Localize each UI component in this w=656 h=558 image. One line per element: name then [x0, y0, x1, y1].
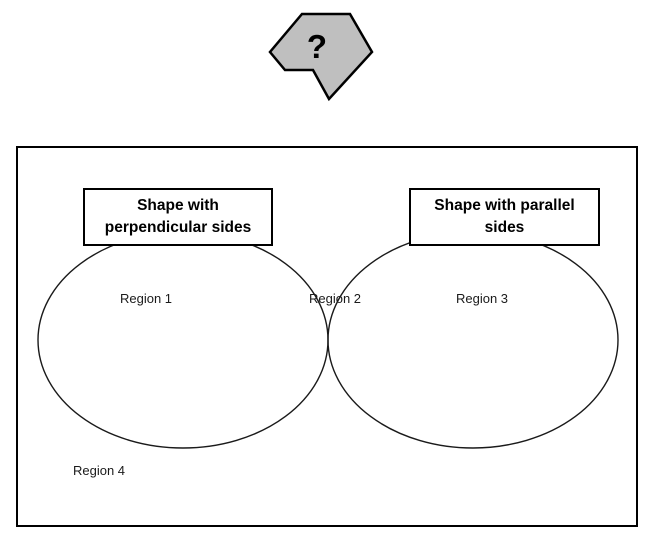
set-label-box-right: Shape with parallel sides — [409, 188, 600, 246]
region-label-4: Region 4 — [73, 463, 125, 478]
region-label-1: Region 1 — [120, 291, 172, 306]
region-label-3: Region 3 — [456, 291, 508, 306]
set-label-right-line-2: sides — [485, 217, 525, 239]
region-label-2: Region 2 — [309, 291, 361, 306]
diagram-canvas: ? Shape with perpendicular sides Shape w… — [0, 0, 656, 558]
set-label-right-line-1: Shape with parallel — [434, 195, 574, 217]
set-label-box-left: Shape with perpendicular sides — [83, 188, 273, 246]
venn-circle-left — [38, 232, 328, 448]
set-label-left-line-1: Shape with — [137, 195, 219, 217]
venn-circle-right — [328, 232, 618, 448]
set-label-left-line-2: perpendicular sides — [105, 217, 251, 239]
